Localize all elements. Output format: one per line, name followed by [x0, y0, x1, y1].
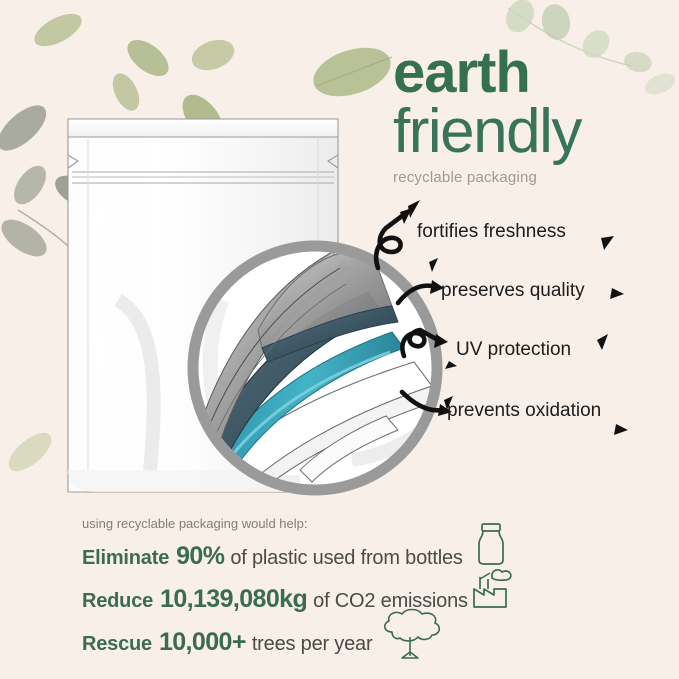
feature-label-preserves-quality: preserves quality	[441, 280, 585, 302]
tree-icon	[374, 606, 446, 666]
feature-label-uv-protection: UV protection	[456, 339, 571, 361]
feature-label-prevents-oxidation: prevents oxidation	[447, 400, 601, 422]
stat-value: 10,139,080kg	[160, 585, 307, 614]
stat-verb: Eliminate	[82, 547, 169, 570]
stat-description: trees per year	[252, 633, 373, 656]
factory-icon	[466, 565, 514, 609]
headline-line-earth: earth	[393, 46, 663, 99]
infographic-canvas: earth friendly recyclable packaging fort…	[0, 0, 679, 679]
headline-subtitle: recyclable packaging	[393, 169, 663, 186]
stat-row-reduce: Reduce 10,139,080kg of CO2 emissions	[82, 585, 602, 614]
impact-stats-block: using recyclable packaging would help: E…	[82, 516, 602, 671]
headline-block: earth friendly recyclable packaging	[393, 46, 663, 186]
stat-value: 90%	[176, 542, 224, 571]
bottle-icon	[471, 521, 511, 567]
stat-row-eliminate: Eliminate 90% of plastic used from bottl…	[82, 542, 602, 571]
stats-intro-text: using recyclable packaging would help:	[82, 516, 602, 531]
feature-label-fortifies-freshness: fortifies freshness	[417, 221, 566, 243]
stat-verb: Reduce	[82, 590, 153, 613]
stat-row-rescue: Rescue 10,000+ trees per year	[82, 628, 602, 657]
stat-verb: Rescue	[82, 633, 152, 656]
headline-line-friendly: friendly	[393, 101, 663, 163]
stat-description: of plastic used from bottles	[230, 547, 462, 570]
stat-value: 10,000+	[159, 628, 246, 657]
